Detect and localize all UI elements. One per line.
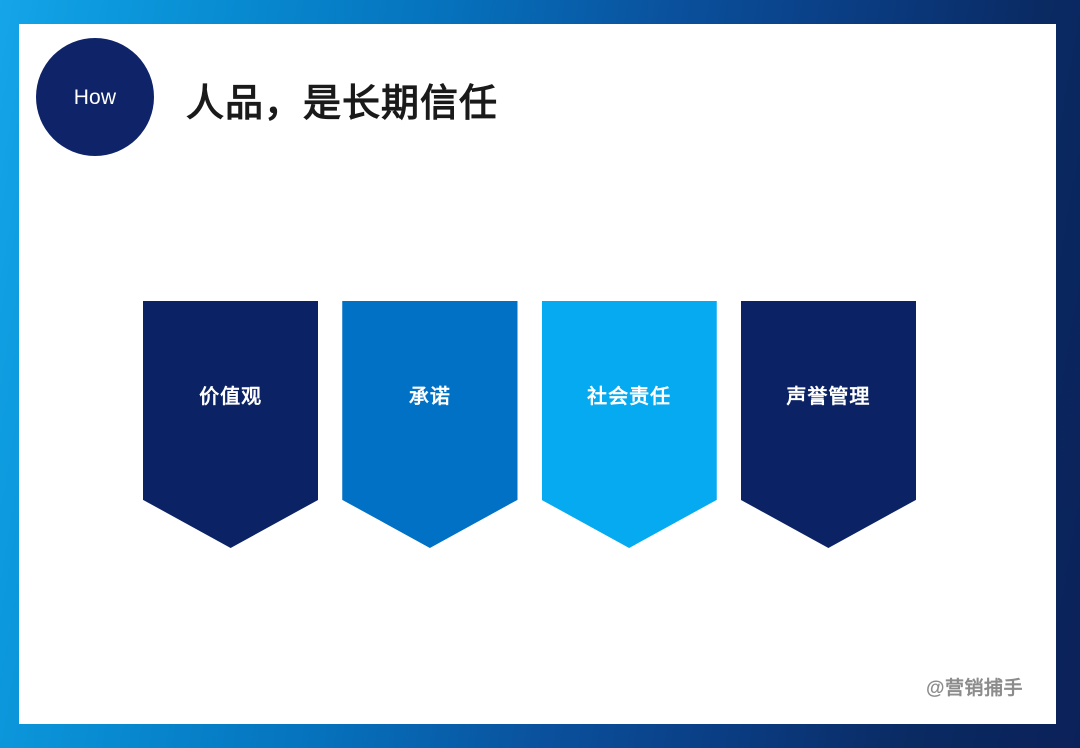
banner-item-2[interactable]: 社会责任 <box>542 301 717 548</box>
page-title: 人品，是长期信任 <box>186 72 498 127</box>
banner-label: 声誉管理 <box>786 387 870 407</box>
slide-canvas: How 人品，是长期信任 价值观 承诺 社会责任 声誉管理 @营销捕手 <box>19 24 1056 724</box>
banner-item-1[interactable]: 承诺 <box>342 301 517 548</box>
slide-frame: How 人品，是长期信任 价值观 承诺 社会责任 声誉管理 @营销捕手 <box>0 0 1080 748</box>
section-badge-label: How <box>74 87 117 108</box>
banner-label: 承诺 <box>409 387 451 407</box>
slide-header: How 人品，是长期信任 <box>19 24 1056 184</box>
banner-label: 价值观 <box>199 387 262 407</box>
banner-item-3[interactable]: 声誉管理 <box>741 301 916 548</box>
banner-row: 价值观 承诺 社会责任 声誉管理 <box>143 301 916 549</box>
section-badge: How <box>36 38 154 156</box>
banner-label: 社会责任 <box>587 387 671 407</box>
banner-item-0[interactable]: 价值观 <box>143 301 318 548</box>
watermark: @营销捕手 <box>926 673 1023 700</box>
